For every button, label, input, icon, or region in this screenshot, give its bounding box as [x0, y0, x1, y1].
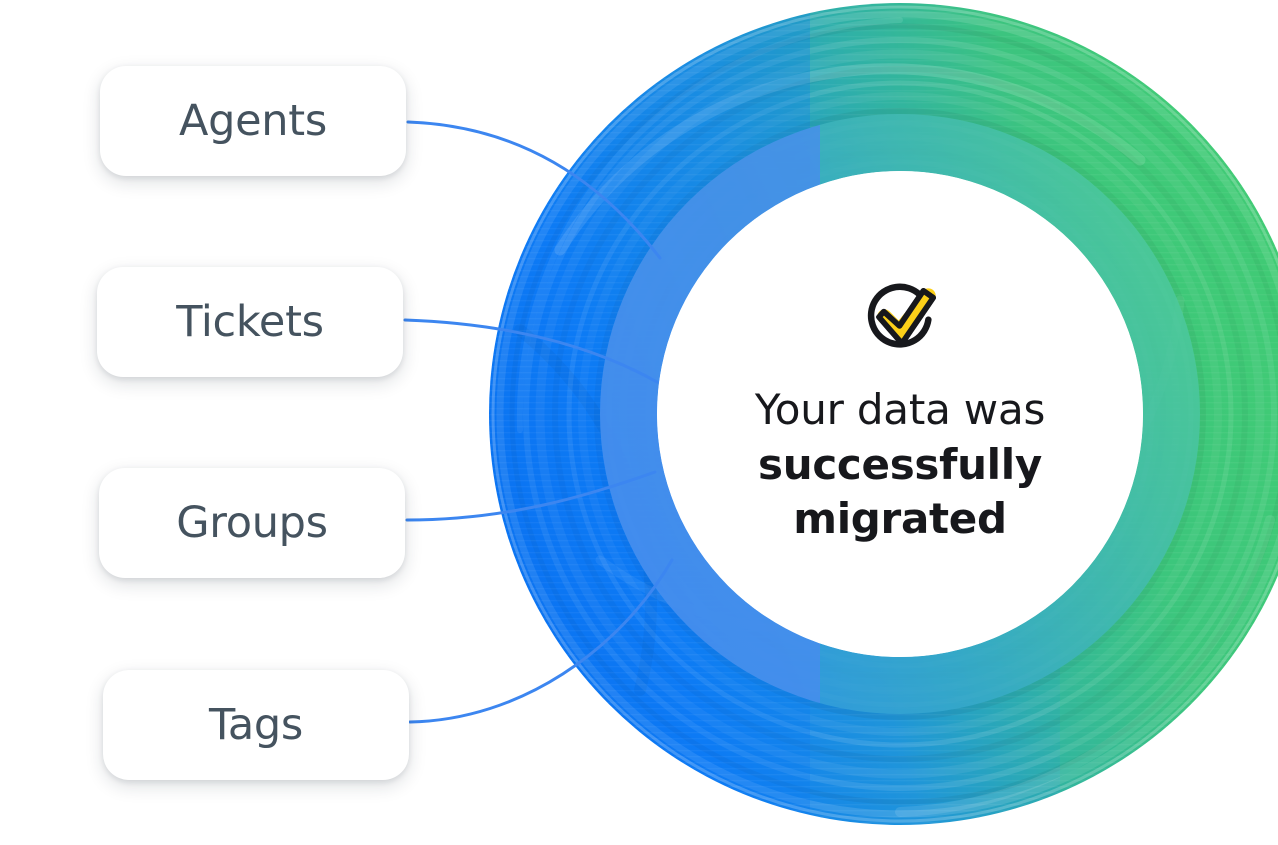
migration-success-illustration: Your data was successfully migrated Agen…: [0, 0, 1278, 845]
entity-pill-label: Groups: [176, 502, 328, 545]
success-line-3: migrated: [720, 492, 1080, 547]
entity-pill-tags[interactable]: Tags: [103, 670, 409, 780]
success-card: Your data was successfully migrated: [657, 171, 1143, 657]
entity-pill-label: Tags: [209, 704, 303, 747]
entity-pill-groups[interactable]: Groups: [99, 468, 405, 578]
entity-pill-agents[interactable]: Agents: [100, 66, 406, 176]
success-message: Your data was successfully migrated: [720, 383, 1080, 547]
entity-pill-tickets[interactable]: Tickets: [97, 267, 403, 377]
success-line-2: successfully: [720, 438, 1080, 493]
entity-pill-label: Agents: [179, 100, 327, 143]
success-line-1: Your data was: [720, 383, 1080, 438]
entity-pill-label: Tickets: [176, 301, 324, 344]
circle-check-icon: [857, 275, 943, 361]
